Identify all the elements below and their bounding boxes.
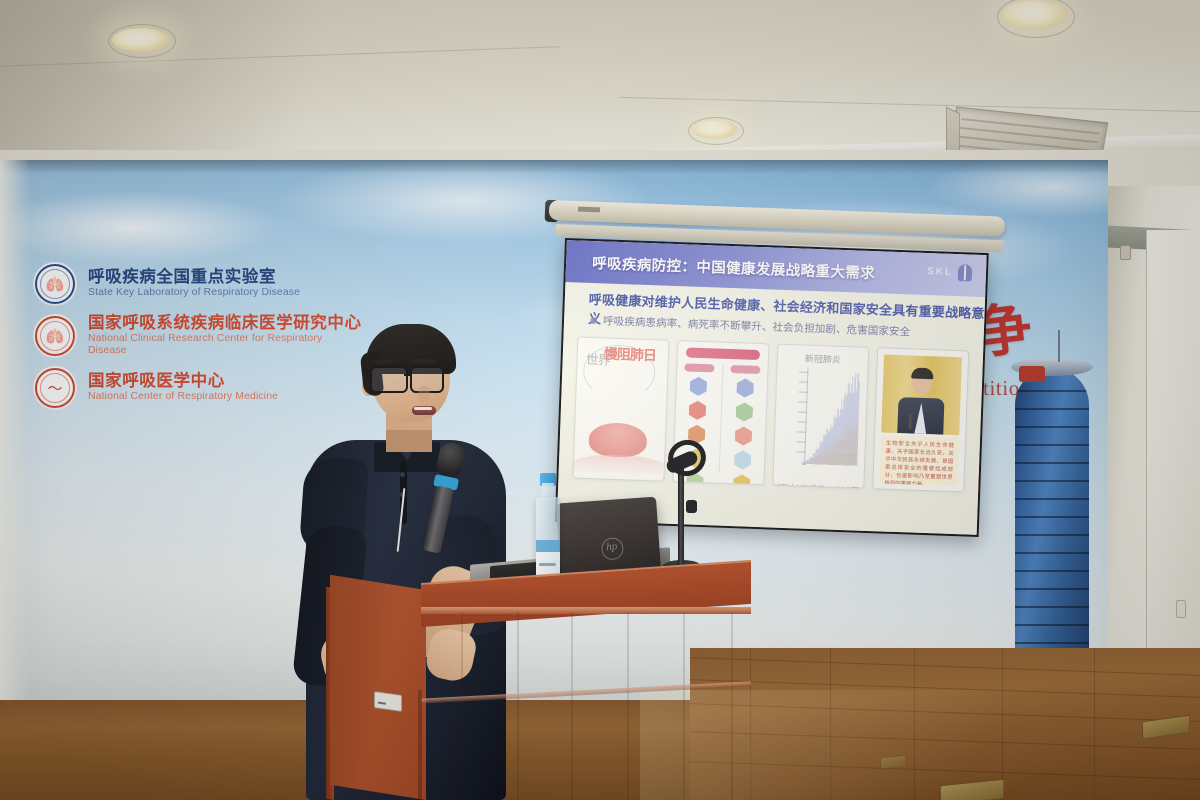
glasses-bridge bbox=[404, 374, 412, 376]
logo-label-en: National Center of Respiratory Medicine bbox=[88, 391, 278, 403]
sensor-icon bbox=[1120, 245, 1131, 260]
speaker-nose bbox=[418, 386, 430, 402]
banner-top-shadow bbox=[0, 160, 1108, 174]
podium-corner-seam bbox=[418, 690, 422, 800]
logo-row: 🫁 呼吸疾病全国重点实验室 State Key Laboratory of Re… bbox=[33, 262, 363, 306]
polo-button bbox=[400, 472, 405, 477]
wave-emblem-icon: 〜 bbox=[33, 366, 77, 410]
mic-stand-knob[interactable] bbox=[686, 500, 697, 513]
mic-stand-pole bbox=[678, 462, 684, 566]
tower-sign bbox=[1019, 366, 1045, 382]
portrait-quote: 生物安全关乎人民生命健康，关乎国家长治久安，关乎中华民族永续发展，是国家总体安全… bbox=[879, 435, 959, 486]
logo-label-en: State Key Laboratory of Respiratory Dise… bbox=[88, 287, 300, 299]
bottle-label-band bbox=[536, 540, 560, 552]
tower-mast bbox=[1058, 330, 1060, 362]
portrait-photo bbox=[881, 354, 962, 435]
bullet-dot-icon bbox=[590, 317, 597, 324]
slide-panel-copd: 世界 慢阻肺日 bbox=[572, 337, 669, 482]
lung-illustration-icon bbox=[588, 422, 647, 458]
skl-logo-text: SKL bbox=[927, 266, 953, 278]
wall-column bbox=[1146, 230, 1200, 670]
portrait-hair bbox=[911, 367, 933, 379]
downlight-trim bbox=[688, 117, 744, 145]
chart-title: 新冠肺炎 bbox=[778, 351, 868, 367]
slide-panel-portrait: 生物安全关乎人民生命健康，关乎国家长治久安，关乎中华民族永续发展，是国家总体安全… bbox=[872, 347, 969, 492]
panel2-col-right bbox=[723, 365, 764, 485]
downlight-trim bbox=[108, 24, 176, 58]
panel2-pill bbox=[684, 363, 714, 372]
panel3-caption-1: 超过6亿感染，600万死亡 bbox=[777, 484, 859, 489]
lung-emblem-blue-icon: 🫁 bbox=[33, 262, 77, 306]
skl-logo: SKL bbox=[927, 263, 973, 282]
glass-tower-photo bbox=[1015, 368, 1089, 668]
conference-hall-photo: 🫁 呼吸疾病全国重点实验室 State Key Laboratory of Re… bbox=[0, 0, 1200, 800]
panel2-divider bbox=[719, 365, 724, 473]
portrait-microphone-icon bbox=[908, 414, 912, 430]
speaker-neck-shadow bbox=[386, 430, 432, 452]
speaker-mouth bbox=[412, 406, 436, 415]
hp-logo-icon bbox=[601, 537, 624, 560]
chart-plot-area bbox=[792, 367, 861, 465]
logo-label-cn: 呼吸疾病全国重点实验室 bbox=[88, 268, 300, 286]
banner-left-fade bbox=[0, 160, 30, 705]
decor-wave bbox=[574, 453, 665, 474]
slide-title: 呼吸疾病防控：中国健康发展战略重大需求 bbox=[592, 252, 876, 283]
housing-label bbox=[578, 207, 600, 213]
lung-icon bbox=[958, 264, 973, 281]
presentation-slide: 呼吸疾病防控：中国健康发展战略重大需求 SKL 呼吸健康对维护人民生命健康、社会… bbox=[557, 240, 987, 535]
wooden-lectern bbox=[421, 612, 751, 800]
lung-emblem-red-icon: 🫁 bbox=[33, 314, 77, 358]
panel1-headline-accent: 慢阻肺日 bbox=[604, 348, 656, 363]
glasses-lens bbox=[370, 366, 408, 393]
projection-screen: 呼吸疾病防控：中国健康发展战略重大需求 SKL 呼吸健康对维护人民生命健康、社会… bbox=[555, 238, 989, 537]
panel2-pill bbox=[731, 365, 761, 374]
ceiling-seam bbox=[620, 97, 1200, 112]
glasses-icon bbox=[370, 366, 456, 390]
podium-left-face bbox=[330, 575, 426, 800]
chart-bars bbox=[796, 367, 862, 369]
light-switch[interactable] bbox=[1176, 600, 1186, 618]
logo-label-cn: 国家呼吸医学中心 bbox=[88, 372, 278, 390]
slide-panel-covid-chart: 新冠肺炎 超过6亿感染，600万死亡 长期经济损失20万亿 bbox=[772, 344, 869, 489]
panel2-header-band bbox=[686, 347, 760, 360]
slide-panels: 世界 慢阻肺日 bbox=[572, 337, 969, 493]
